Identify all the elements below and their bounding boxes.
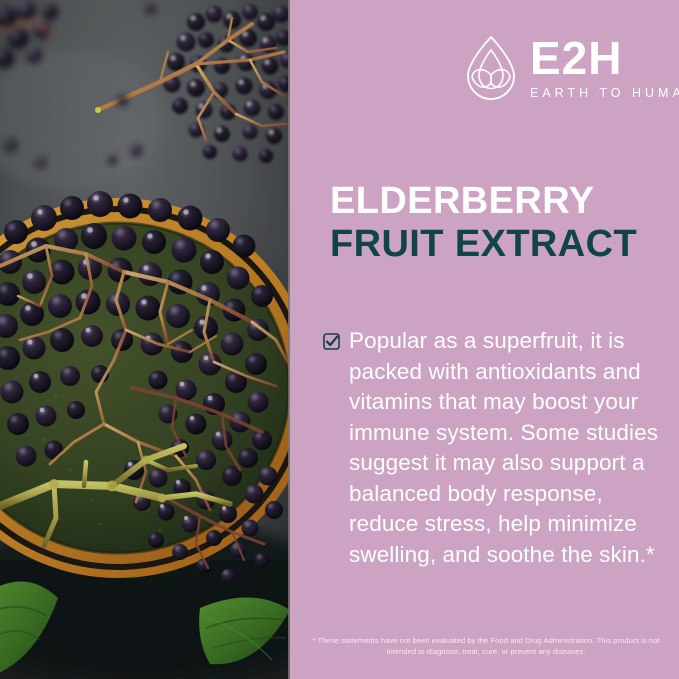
elderberry-photo-illustration — [0, 0, 290, 679]
fda-disclaimer: * These statements have not been evaluat… — [312, 635, 660, 657]
info-panel: E2H ® EARTH TO HUMANS ELDERBERRY FRUIT E… — [290, 0, 679, 679]
brand-wordmark: E2H — [530, 35, 679, 81]
benefit-text: Popular as a superfruit, it is packed wi… — [349, 326, 668, 570]
brand-tagline: EARTH TO HUMANS — [530, 86, 679, 100]
checkbox-checked-icon — [323, 333, 340, 350]
elderberry-photo — [0, 0, 290, 679]
product-info-card: E2H ® EARTH TO HUMANS ELDERBERRY FRUIT E… — [0, 0, 679, 679]
product-title-line2: FRUIT EXTRACT — [330, 223, 670, 266]
benefit-bullet: Popular as a superfruit, it is packed wi… — [323, 326, 668, 570]
product-title: ELDERBERRY FRUIT EXTRACT — [330, 180, 670, 266]
droplet-leaf-icon — [462, 33, 520, 103]
brand-logo: E2H ® EARTH TO HUMANS — [462, 33, 679, 103]
product-title-line1: ELDERBERRY — [330, 180, 670, 223]
